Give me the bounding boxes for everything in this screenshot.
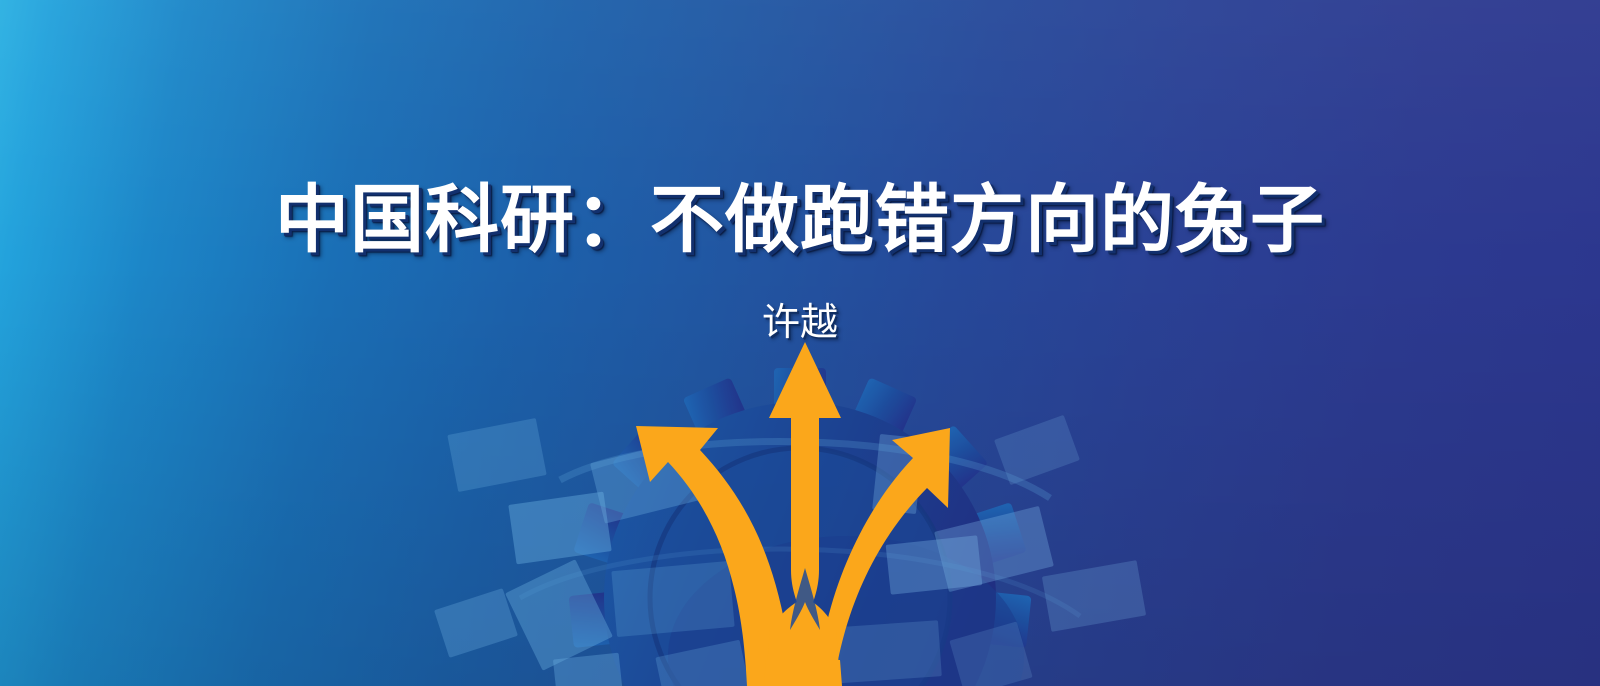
artwork-clip-group (434, 342, 1146, 686)
author-name: 许越 (0, 291, 1600, 346)
slide-root: 中国科研：不做跑错方向的兔子 许越 (0, 0, 1600, 686)
arrow-stem-base (764, 660, 842, 686)
decorative-artwork (0, 330, 1600, 686)
page-title: 中国科研：不做跑错方向的兔子 (0, 178, 1600, 263)
